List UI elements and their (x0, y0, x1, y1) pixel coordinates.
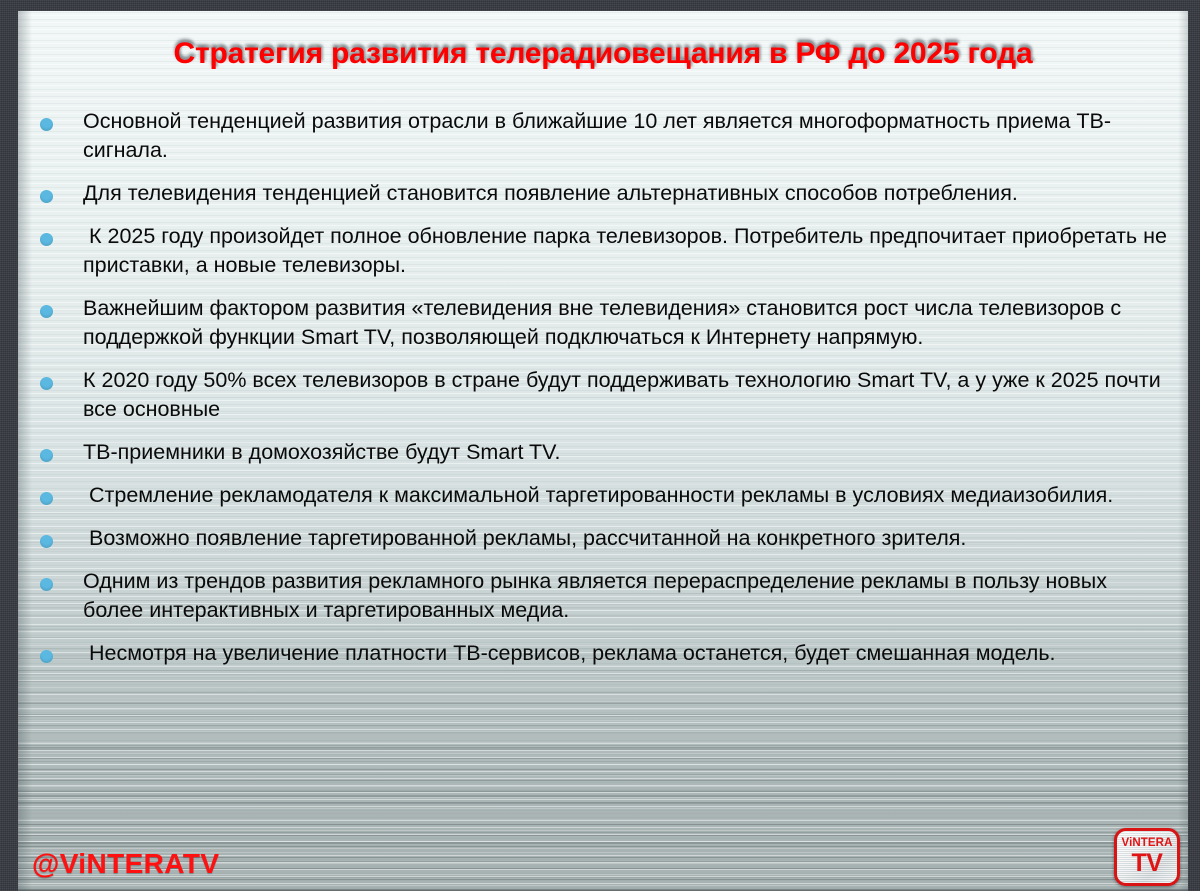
list-item: К 2020 году 50% всех телевизоров в стран… (18, 366, 1188, 424)
logo-inner-plate: ViNTERA TV (1117, 831, 1177, 883)
list-item: ТВ-приемники в домохозяйстве будут Smart… (18, 438, 1188, 467)
bullet-dot-icon (40, 377, 53, 390)
slide-frame: Стратегия развития телерадиовещания в РФ… (0, 0, 1200, 891)
list-item-label: Стремление рекламодателя к максимальной … (83, 483, 1113, 507)
page-title: Стратегия развития телерадиовещания в РФ… (18, 37, 1188, 71)
bullet-dot-icon (40, 578, 53, 591)
list-item: Для телевидения тенденцией становится по… (18, 179, 1188, 208)
list-item: Возможно появление таргетированной рекла… (18, 524, 1188, 553)
bullet-dot-icon (40, 118, 53, 131)
channel-watermark: @ViNTERATV (32, 848, 219, 880)
bullet-dot-icon (40, 190, 53, 203)
bullet-dot-icon (40, 305, 53, 318)
list-item-label: Для телевидения тенденцией становится по… (83, 181, 1018, 205)
list-item: К 2025 году произойдет полное обновление… (18, 222, 1188, 280)
list-item-label: Важнейшим фактором развития «телевидения… (83, 296, 1127, 349)
slide-surface: Стратегия развития телерадиовещания в РФ… (18, 11, 1188, 891)
vintera-tv-logo: ViNTERA TV (1114, 828, 1180, 886)
list-item: Одним из трендов развития рекламного рын… (18, 567, 1188, 625)
list-item: Стремление рекламодателя к максимальной … (18, 481, 1188, 510)
bullet-dot-icon (40, 492, 53, 505)
bullet-dot-icon (40, 449, 53, 462)
list-item: Несмотря на увеличение платности ТВ-серв… (18, 639, 1188, 668)
list-item-label: К 2025 году произойдет полное обновление… (83, 224, 1173, 277)
bullet-dot-icon (40, 535, 53, 548)
list-item-label: Возможно появление таргетированной рекла… (83, 526, 966, 550)
list-item: Основной тенденцией развития отрасли в б… (18, 107, 1188, 165)
list-item-label: Одним из трендов развития рекламного рын… (83, 569, 1113, 622)
bullet-dot-icon (40, 233, 53, 246)
bullet-dot-icon (40, 650, 53, 663)
list-item-label: Основной тенденцией развития отрасли в б… (83, 109, 1111, 162)
list-item-label: ТВ-приемники в домохозяйстве будут Smart… (83, 440, 560, 464)
logo-suffix-label: TV (1132, 851, 1163, 876)
list-item-label: Несмотря на увеличение платности ТВ-серв… (83, 641, 1056, 665)
list-item: Важнейшим фактором развития «телевидения… (18, 294, 1188, 352)
list-item-label: К 2020 году 50% всех телевизоров в стран… (83, 368, 1167, 421)
bullet-list: Основной тенденцией развития отрасли в б… (18, 107, 1188, 682)
